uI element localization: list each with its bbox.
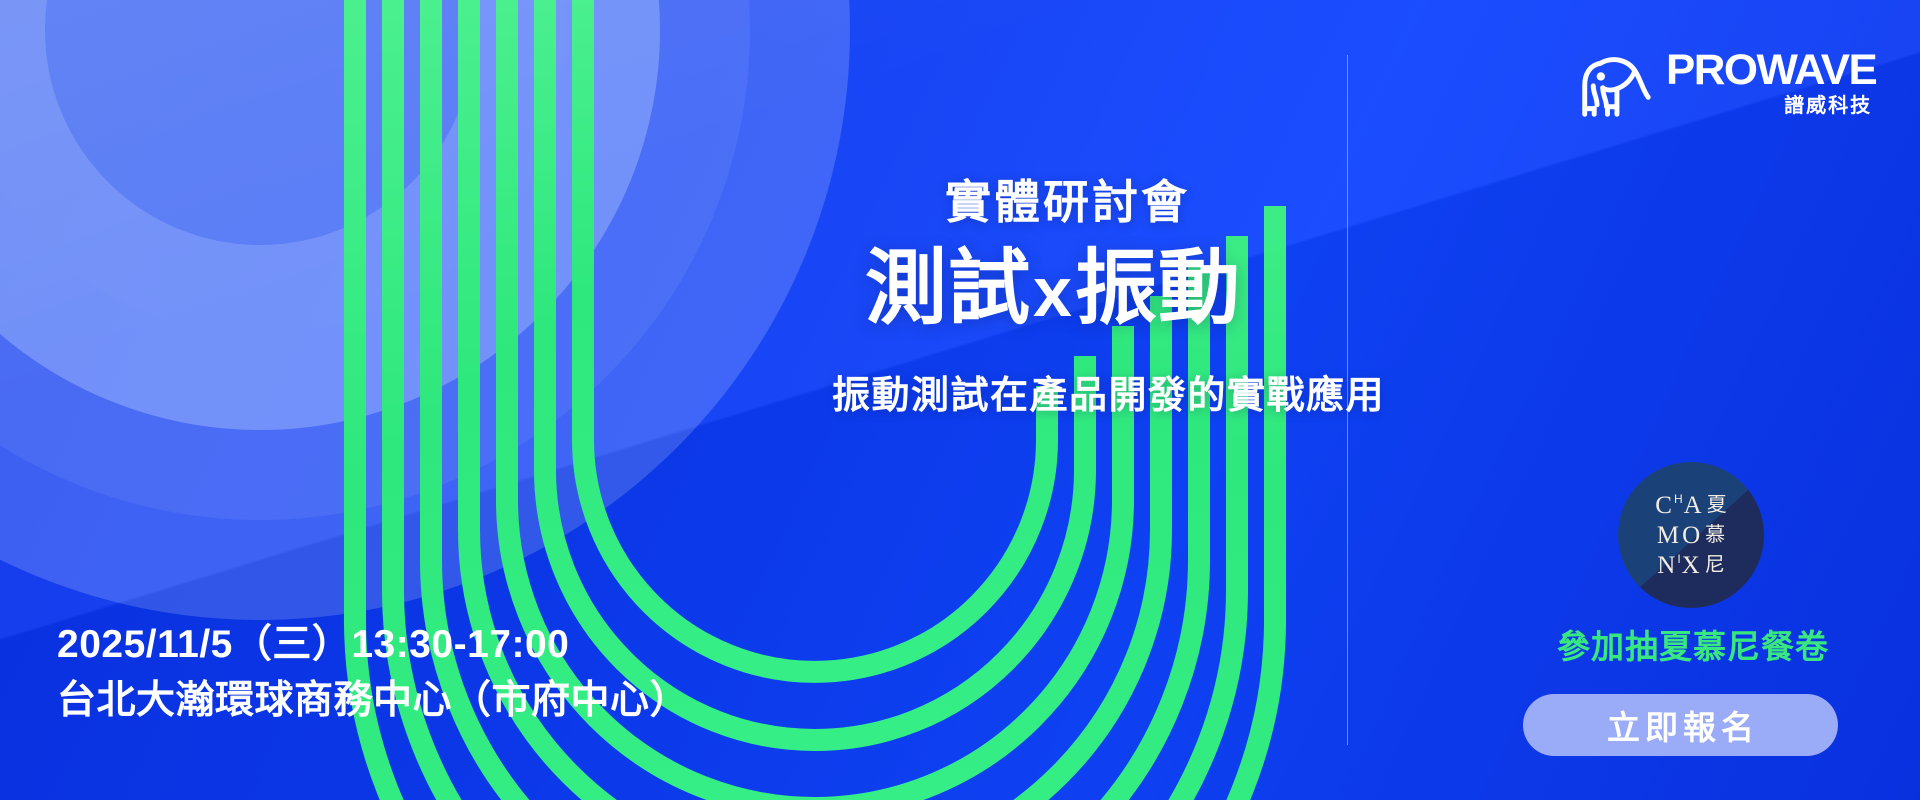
event-info: 2025/11/5（三）13:30-17:00 台北大瀚環球商務中心（市府中心） (57, 620, 689, 726)
event-subtitle: 振動測試在產品開發的實戰應用 (832, 364, 1385, 419)
chamonix-badge: CHA夏 MO慕 NIX尼 (1618, 462, 1764, 608)
chamonix-row3-lat2: X (1682, 553, 1701, 578)
prowave-wordmark-group: PROWAVE 譜威科技 (1666, 50, 1872, 118)
chamonix-row3-cn: 尼 (1705, 555, 1725, 575)
background-ring-2 (0, 0, 750, 520)
background-ring-5 (45, 0, 475, 245)
background-ring-4 (0, 0, 565, 335)
background-sweep-highlight (0, 0, 1090, 720)
event-datetime: 2025/11/5（三）13:30-17:00 (57, 620, 689, 670)
event-banner: PROWAVE 譜威科技 實體研討會 測試x振動 振動測試在產品開發的實戰應用 … (0, 0, 1920, 800)
chamonix-row-1: CHA夏 (1655, 493, 1726, 518)
background-ring-1 (0, 0, 850, 620)
chamonix-row-3: NIX尼 (1657, 553, 1724, 578)
chamonix-row1-cn: 夏 (1707, 495, 1727, 515)
event-title-part1: 測試 (865, 243, 1031, 334)
chamonix-row2-lat2: O (1682, 523, 1701, 548)
prowave-logo: PROWAVE 譜威科技 (1578, 44, 1870, 124)
prowave-wordmark-cn: 譜威科技 (1666, 95, 1872, 118)
promo-text: 參加抽夏慕尼餐卷 (1528, 620, 1858, 668)
event-title-x: x (1031, 253, 1075, 331)
chamonix-row1-lat1: C (1655, 493, 1673, 518)
chamonix-row-2: MO慕 (1657, 523, 1725, 548)
background-ring-3 (0, 0, 660, 430)
event-kicker: 實體研討會 (945, 166, 1190, 232)
chamonix-row2-lat1: M (1657, 523, 1680, 548)
chamonix-row1-lat2: A (1684, 493, 1703, 518)
chamonix-row1-sup: H (1674, 492, 1683, 506)
chamonix-row2-cn: 慕 (1705, 525, 1725, 545)
chamonix-row3-lat1: N (1657, 553, 1676, 578)
register-button-label: 立即報名 (1602, 701, 1759, 749)
event-title: 測試x振動 (865, 248, 1241, 330)
event-venue: 台北大瀚環球商務中心（市府中心） (57, 676, 689, 726)
chamonix-row3-sup: I (1677, 552, 1680, 566)
register-button[interactable]: 立即報名 (1523, 694, 1838, 756)
prowave-wordmark: PROWAVE (1666, 50, 1876, 91)
event-title-part2: 振動 (1075, 243, 1241, 334)
elephant-logo-icon (1578, 48, 1654, 120)
chamonix-badge-text: CHA夏 MO慕 NIX尼 (1618, 462, 1764, 608)
